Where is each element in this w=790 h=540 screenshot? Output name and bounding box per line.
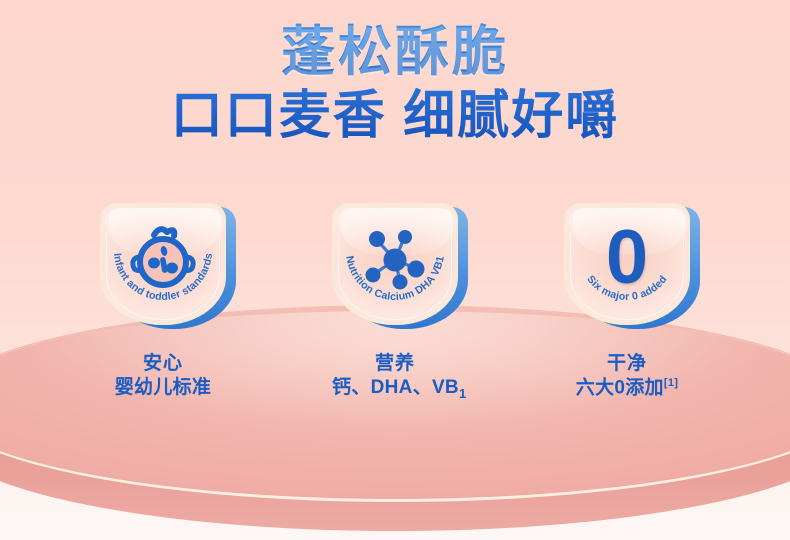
caption-detail-subscript: 1 bbox=[459, 386, 467, 401]
caption-detail: 六大0添加[1] bbox=[564, 376, 690, 401]
caption-title: 安心 bbox=[100, 352, 226, 376]
caption-infant-toddler-standards: 安心 婴幼儿标准 bbox=[100, 352, 226, 412]
caption-six-major-zero-added: 干净 六大0添加[1] bbox=[564, 352, 690, 412]
svg-text:Nutrition Calcium DHA VB1: Nutrition Calcium DHA VB1 bbox=[343, 255, 447, 303]
headline-block: 蓬松酥脆 口口麦香 细腻好嚼 bbox=[0, 22, 790, 148]
arc-text-label-2: Nutrition Calcium DHA VB1 bbox=[343, 255, 447, 303]
svg-text:Six major 0 added: Six major 0 added bbox=[584, 273, 669, 303]
caption-detail-superscript: [1] bbox=[664, 377, 678, 389]
svg-text:Infant and toddler standards: Infant and toddler standards bbox=[111, 252, 215, 303]
pedestal-platform bbox=[0, 305, 790, 540]
badge-arc-text: Nutrition Calcium DHA VB1 bbox=[332, 203, 458, 325]
caption-detail-text: 钙、DHA、VB bbox=[332, 377, 459, 398]
caption-title: 干净 bbox=[564, 352, 690, 376]
arc-text-label-3: Six major 0 added bbox=[584, 273, 669, 303]
caption-detail: 钙、DHA、VB1 bbox=[332, 376, 458, 403]
caption-detail: 婴幼儿标准 bbox=[100, 376, 226, 401]
headline-line-1: 蓬松酥脆 bbox=[0, 22, 790, 82]
badge-six-major-zero-added[interactable]: 0 Six major 0 added bbox=[564, 203, 690, 327]
arc-text-label-1: Infant and toddler standards bbox=[111, 252, 215, 303]
caption-nutrition: 营养 钙、DHA、VB1 bbox=[332, 352, 458, 412]
badge-arc-text: Infant and toddler standards bbox=[100, 203, 226, 325]
caption-row: 安心 婴幼儿标准 营养 钙、DHA、VB1 干净 六大0添加[1] bbox=[0, 352, 790, 412]
caption-detail-text: 六大0添加 bbox=[576, 377, 664, 398]
caption-detail-text: 婴幼儿标准 bbox=[115, 377, 212, 398]
badge-nutrition[interactable]: Nutrition Calcium DHA VB1 bbox=[332, 203, 458, 327]
badge-row: Infant and toddler standards bbox=[0, 203, 790, 333]
headline-line-2: 口口麦香 细腻好嚼 bbox=[0, 86, 790, 147]
caption-title: 营养 bbox=[332, 352, 458, 376]
badge-arc-text: Six major 0 added bbox=[564, 203, 690, 325]
badge-infant-toddler-standards[interactable]: Infant and toddler standards bbox=[100, 203, 226, 327]
